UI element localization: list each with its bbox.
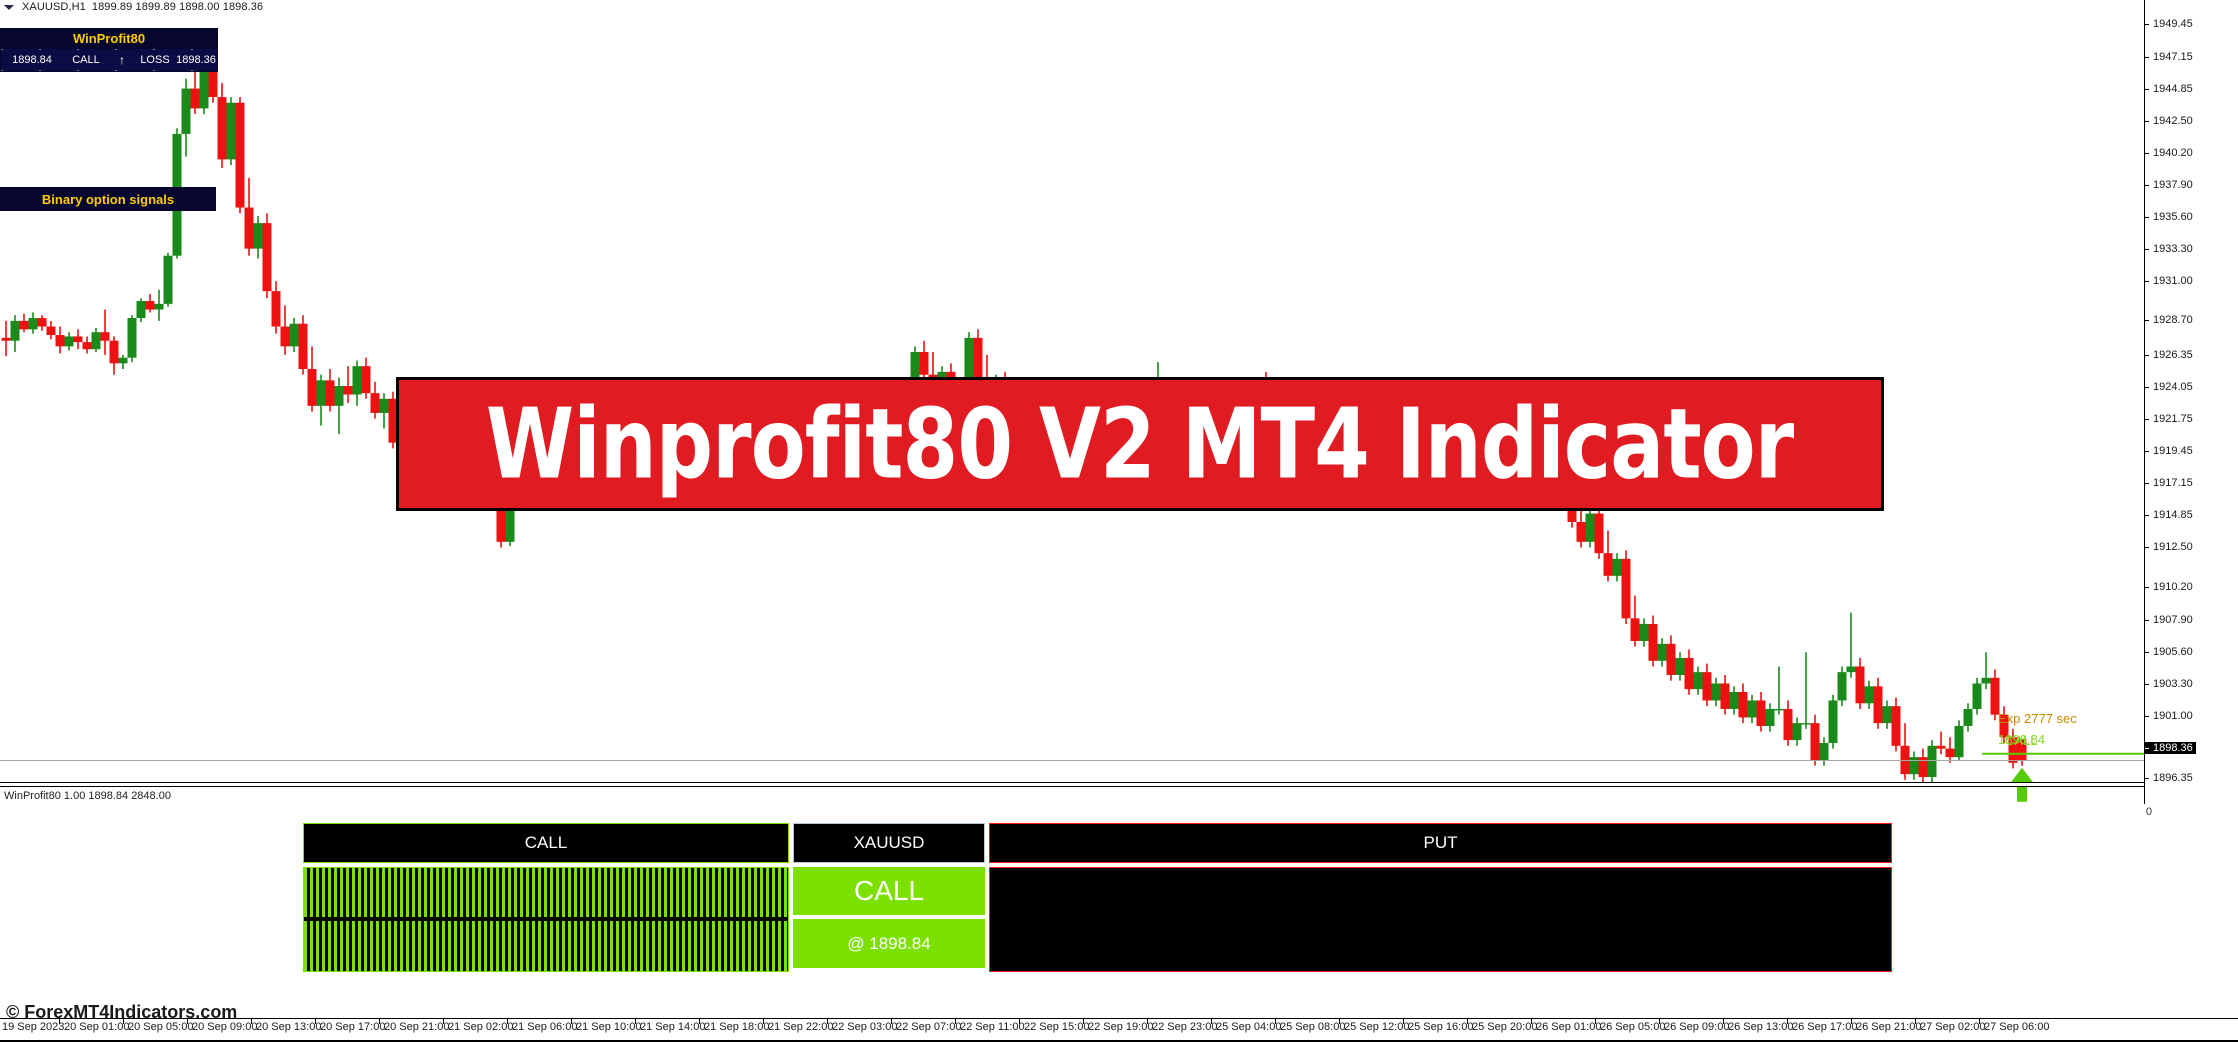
asset-column: XAUUSD CALL @ 1898.84	[793, 823, 985, 968]
put-strength-bar	[989, 867, 1892, 972]
chart-symbol-label: XAUUSD,H1	[22, 1, 86, 13]
price-tick: 1919.45	[2145, 445, 2193, 457]
price-tick: 1901.00	[2145, 710, 2193, 722]
winprofit-dashboard-panel[interactable]: WinProfit80 1898.84 CALL ↑ LOSS 1898.36	[0, 28, 218, 72]
trade-signal-panel: CALL XAUUSD CALL @ 1898.84 PUT	[303, 823, 1892, 988]
time-tick: 21 Sep 14:00	[640, 1021, 705, 1033]
call-bar-midline	[304, 917, 788, 921]
put-column: PUT	[989, 823, 1892, 972]
time-tick: 25 Sep 16:00	[1408, 1021, 1473, 1033]
signal-result: LOSS	[135, 54, 175, 66]
current-price-marker: 1898.36	[2145, 742, 2196, 754]
time-tick: 21 Sep 02:00	[448, 1021, 513, 1033]
time-tick: 20 Sep 17:00	[320, 1021, 385, 1033]
price-tick: 1924.05	[2145, 381, 2193, 393]
price-tick: 1928.70	[2145, 314, 2193, 326]
price-tick: 1937.90	[2145, 179, 2193, 191]
triangle-down-icon[interactable]	[4, 5, 14, 10]
binary-option-signals-label: Binary option signals	[0, 187, 216, 211]
time-tick: 27 Sep 02:00	[1920, 1021, 1985, 1033]
time-tick: 25 Sep 12:00	[1344, 1021, 1409, 1033]
price-tick: 1949.45	[2145, 18, 2193, 30]
call-column: CALL	[303, 823, 789, 972]
time-tick: 25 Sep 20:00	[1472, 1021, 1537, 1033]
subwindow-zero-label: 0	[2146, 806, 2152, 818]
mt4-chart-window: XAUUSD,H1 1899.89 1899.89 1898.00 1898.3…	[0, 0, 2238, 1042]
expiry-label: Exp 2777 sec	[1998, 711, 2077, 726]
time-tick: 20 Sep 21:00	[384, 1021, 449, 1033]
indicator-status-text: WinProfit80 1.00 1898.84 2848.00	[4, 790, 171, 802]
time-tick: 20 Sep 13:00	[256, 1021, 321, 1033]
price-tick: 1896.35	[2145, 772, 2193, 784]
price-tick: 1914.85	[2145, 509, 2193, 521]
time-tick: 25 Sep 04:00	[1216, 1021, 1281, 1033]
price-tick: 1912.50	[2145, 541, 2193, 553]
copyright-icon: ©	[6, 1002, 19, 1023]
time-tick: 22 Sep 15:00	[1024, 1021, 1089, 1033]
signal-exit-price: 1898.36	[175, 54, 217, 66]
price-tick: 1947.15	[2145, 51, 2193, 63]
chart-symbol-header: XAUUSD,H1 1899.89 1899.89 1898.00 1898.3…	[0, 0, 263, 14]
asset-direction-badge: CALL	[793, 867, 985, 915]
time-scale[interactable]: 19 Sep 202320 Sep 01:0020 Sep 05:0020 Se…	[0, 1018, 2238, 1042]
time-tick: 26 Sep 17:00	[1792, 1021, 1857, 1033]
arrow-up-icon: ↑	[109, 53, 135, 67]
time-tick: 26 Sep 01:00	[1536, 1021, 1601, 1033]
time-tick: 21 Sep 10:00	[576, 1021, 641, 1033]
signal-entry-price: 1898.84	[1, 54, 63, 66]
time-tick: 27 Sep 06:00	[1984, 1021, 2049, 1033]
price-scale[interactable]: 1949.451947.151944.851942.501940.201937.…	[2144, 0, 2238, 804]
call-signal-label: CALL	[2005, 733, 2038, 748]
watermark-text: ForexMT4Indicators.com	[24, 1002, 237, 1023]
winprofit-panel-title: WinProfit80	[1, 29, 217, 49]
chart-subwindow-divider	[0, 782, 2238, 787]
time-tick: 22 Sep 19:00	[1088, 1021, 1153, 1033]
price-tick: 1940.20	[2145, 147, 2193, 159]
title-banner: Winprofit80 V2 MT4 Indicator	[396, 377, 1884, 511]
time-tick: 26 Sep 13:00	[1728, 1021, 1793, 1033]
price-tick: 1944.85	[2145, 83, 2193, 95]
panel-dotted-divider-top	[1, 49, 217, 50]
time-tick: 22 Sep 11:00	[960, 1021, 1025, 1033]
time-tick: 25 Sep 08:00	[1280, 1021, 1345, 1033]
price-tick: 1935.60	[2145, 211, 2193, 223]
price-tick: 1907.90	[2145, 614, 2193, 626]
price-tick: 1931.00	[2145, 275, 2193, 287]
asset-entry-price: @ 1898.84	[793, 919, 985, 968]
watermark: © ForexMT4Indicators.com	[6, 1002, 237, 1023]
panel-dotted-divider-bottom	[1, 70, 217, 71]
time-tick: 21 Sep 22:00	[768, 1021, 833, 1033]
winprofit-panel-row: 1898.84 CALL ↑ LOSS 1898.36	[1, 49, 217, 71]
price-tick: 1903.30	[2145, 678, 2193, 690]
price-tick: 1905.60	[2145, 646, 2193, 658]
time-tick: 26 Sep 05:00	[1600, 1021, 1665, 1033]
price-tick: 1921.75	[2145, 413, 2193, 425]
time-tick: 21 Sep 18:00	[704, 1021, 769, 1033]
price-tick: 1933.30	[2145, 243, 2193, 255]
time-tick: 22 Sep 07:00	[896, 1021, 961, 1033]
time-tick: 26 Sep 21:00	[1856, 1021, 1921, 1033]
put-header[interactable]: PUT	[989, 823, 1892, 863]
price-tick: 1917.15	[2145, 477, 2193, 489]
price-tick: 1926.35	[2145, 349, 2193, 361]
title-banner-text: Winprofit80 V2 MT4 Indicator	[486, 395, 1793, 492]
price-tick: 1910.20	[2145, 581, 2193, 593]
time-tick: 21 Sep 06:00	[512, 1021, 577, 1033]
signal-direction: CALL	[63, 54, 109, 66]
asset-symbol-header[interactable]: XAUUSD	[793, 823, 985, 863]
call-strength-bar	[303, 867, 789, 972]
time-tick: 22 Sep 03:00	[832, 1021, 897, 1033]
chart-ohlc-values: 1899.89 1899.89 1898.00 1898.36	[92, 1, 263, 13]
price-tick: 1942.50	[2145, 115, 2193, 127]
time-tick: 26 Sep 09:00	[1664, 1021, 1729, 1033]
call-header[interactable]: CALL	[303, 823, 789, 863]
time-tick: 22 Sep 23:00	[1152, 1021, 1217, 1033]
